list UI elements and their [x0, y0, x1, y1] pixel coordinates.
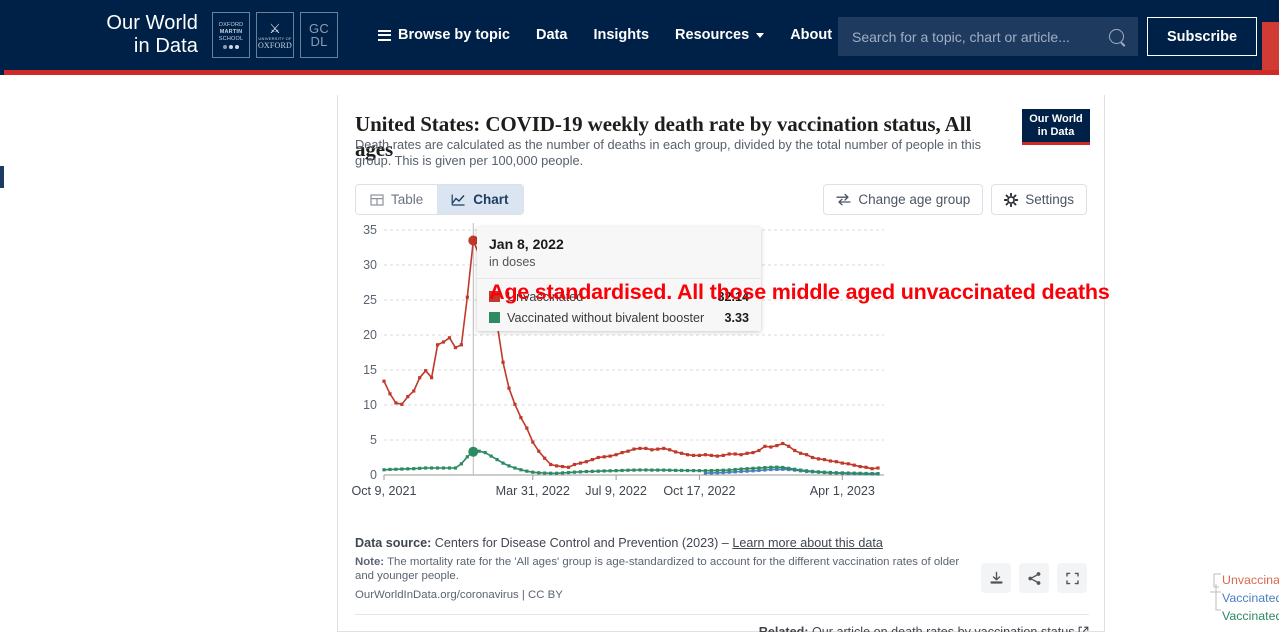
site-logo-line2: in Data: [74, 35, 198, 58]
note-label: Note:: [355, 556, 384, 568]
site-header: Our World in Data OXFORD MARTIN SCHOOL ⚔…: [4, 0, 1279, 70]
gear-icon: [1004, 193, 1018, 207]
chart-note: Note: The mortality rate for the 'All ag…: [355, 555, 975, 583]
search-icon[interactable]: [1109, 29, 1124, 44]
header-right-red-block: [1262, 22, 1279, 70]
svg-text:35: 35: [363, 223, 377, 237]
control-label: Settings: [1025, 192, 1074, 207]
site-logo-line1: Our World: [74, 12, 198, 35]
tooltip-swatch-no-bivalent: [489, 312, 500, 323]
tab-label: Chart: [473, 192, 508, 207]
learn-more-link[interactable]: Learn more about this data: [732, 536, 883, 550]
chart-card: United States: COVID-19 weekly death rat…: [337, 95, 1105, 632]
source-url: OurWorldInData.org/coronavirus | CC BY: [355, 589, 975, 601]
svg-text:30: 30: [363, 258, 377, 272]
oxf-l2: OXFORD: [258, 42, 292, 49]
chart-legend: Unvaccinated Vaccinated with bivalent bo…: [1222, 571, 1279, 625]
svg-text:20: 20: [363, 328, 377, 342]
related-label: Related:: [759, 625, 809, 632]
tab-table[interactable]: Table: [356, 185, 437, 214]
tab-label: Table: [391, 192, 423, 207]
owid-badge-line1: Our World: [1029, 113, 1083, 126]
svg-text:25: 25: [363, 293, 377, 307]
tooltip-date: Jan 8, 2022: [489, 236, 749, 252]
omc-l1: OXFORD: [219, 22, 244, 29]
fullscreen-icon: [1065, 571, 1080, 586]
control-label: Change age group: [858, 192, 970, 207]
data-source-text: Centers for Disease Control and Preventi…: [435, 536, 729, 550]
gcdl-l2: DL: [310, 35, 327, 48]
site-logo[interactable]: Our World in Data: [74, 12, 198, 58]
svg-text:15: 15: [363, 363, 377, 377]
swap-arrows-icon: [836, 193, 851, 206]
tooltip-row-label: Vaccinated without bivalent booster: [507, 311, 704, 325]
header-accent-bar: [4, 70, 1279, 75]
nav-insights[interactable]: Insights: [593, 27, 649, 43]
om-dots-icon: [223, 45, 239, 49]
line-chart-icon: [451, 193, 466, 207]
download-button[interactable]: [981, 563, 1011, 593]
svg-text:Oct 9, 2021: Oct 9, 2021: [351, 484, 416, 498]
owid-badge: Our World in Data: [1022, 109, 1090, 145]
main-nav: Browse by topic Data Insights Resources …: [378, 27, 847, 43]
download-icon: [989, 571, 1004, 586]
tooltip-unit: in doses: [489, 255, 749, 269]
search-input[interactable]: [852, 29, 1109, 45]
data-source-label: Data source:: [355, 536, 431, 550]
svg-text:10: 10: [363, 398, 377, 412]
chart-subtitle: Death rates are calculated as the number…: [355, 137, 1005, 168]
search-box[interactable]: [838, 17, 1138, 56]
chart-tooltip: Jan 8, 2022 in doses Unvaccinated 32.14 …: [477, 227, 761, 331]
related-link[interactable]: Our article on death rates by vaccinatio…: [812, 625, 1075, 632]
note-text: The mortality rate for the 'All ages' gr…: [355, 556, 959, 582]
share-icon: [1027, 571, 1042, 586]
owid-badge-line2: in Data: [1038, 126, 1075, 139]
view-tabs: Table Chart: [355, 184, 524, 215]
page-left-edge-accent: [0, 166, 4, 188]
nav-browse-by-topic[interactable]: Browse by topic: [378, 27, 510, 43]
external-link-icon: [1078, 626, 1089, 632]
table-icon: [370, 193, 384, 207]
settings-button[interactable]: Settings: [991, 184, 1087, 215]
svg-text:Oct 17, 2022: Oct 17, 2022: [663, 484, 735, 498]
chart-action-icons: [981, 563, 1087, 593]
related-line: Related: Our article on death rates by v…: [355, 614, 1089, 632]
tooltip-row-value: 3.33: [724, 311, 749, 325]
share-button[interactable]: [1019, 563, 1049, 593]
nav-label: Browse by topic: [398, 27, 510, 43]
list-icon: [378, 30, 391, 41]
svg-text:Jul 9, 2022: Jul 9, 2022: [585, 484, 647, 498]
tooltip-header: Jan 8, 2022 in doses: [477, 227, 761, 269]
gcdl-logo[interactable]: GC DL: [300, 12, 338, 58]
omc-l3: SCHOOL: [219, 36, 243, 43]
legend-item-vaccinated-without-bivalent[interactable]: Vaccinated without bivalent booster: [1222, 607, 1279, 625]
chart-controls: Change age group Settings: [823, 184, 1087, 215]
subscribe-button[interactable]: Subscribe: [1147, 17, 1257, 56]
nav-label: About: [790, 27, 832, 43]
partner-logos: OXFORD MARTIN SCHOOL ⚔ UNIVERSITY OF OXF…: [212, 12, 338, 58]
chevron-down-icon: [756, 33, 764, 38]
red-annotation-text: Age standardised. All those middle aged …: [489, 280, 1110, 305]
nav-data[interactable]: Data: [536, 27, 567, 43]
legend-brace: [1210, 571, 1222, 623]
legend-item-vaccinated-with-bivalent[interactable]: Vaccinated with bivalent booster: [1222, 589, 1279, 607]
legend-item-unvaccinated[interactable]: Unvaccinated: [1222, 571, 1279, 589]
nav-label: Data: [536, 27, 567, 43]
nav-label: Insights: [593, 27, 649, 43]
data-source-line: Data source: Centers for Disease Control…: [355, 536, 975, 550]
tooltip-row: Vaccinated without bivalent booster 3.33: [489, 307, 749, 328]
oxford-crest-icon: ⚔: [269, 22, 281, 35]
oxford-martin-school-logo[interactable]: OXFORD MARTIN SCHOOL: [212, 12, 250, 58]
svg-text:Apr 1, 2023: Apr 1, 2023: [810, 484, 875, 498]
nav-label: Resources: [675, 27, 749, 43]
omc-l2: MARTIN: [220, 29, 243, 36]
tab-chart[interactable]: Chart: [437, 185, 522, 214]
svg-text:5: 5: [370, 433, 377, 447]
fullscreen-button[interactable]: [1057, 563, 1087, 593]
svg-text:Mar 31, 2022: Mar 31, 2022: [496, 484, 570, 498]
university-of-oxford-logo[interactable]: ⚔ UNIVERSITY OF OXFORD: [256, 12, 294, 58]
nav-resources[interactable]: Resources: [675, 27, 764, 43]
svg-text:0: 0: [370, 468, 377, 482]
chart-footer: Data source: Centers for Disease Control…: [355, 536, 975, 601]
change-age-group-button[interactable]: Change age group: [823, 184, 983, 215]
